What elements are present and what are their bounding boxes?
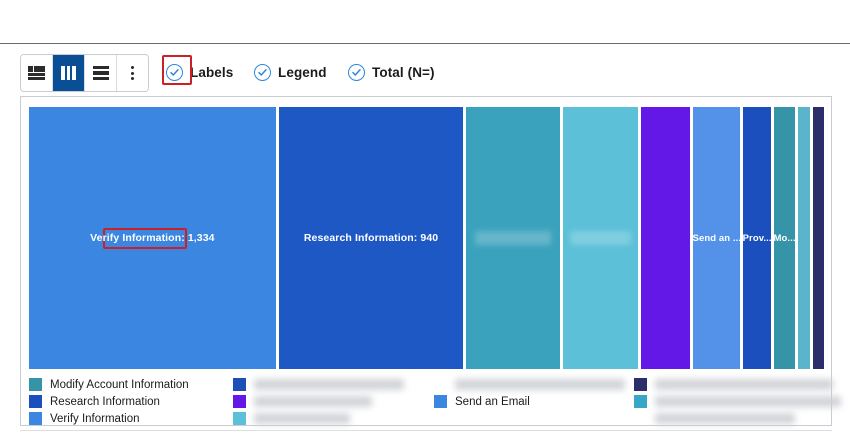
legend-item[interactable] [634,411,841,426]
legend-swatch [233,412,246,425]
bar-chart-icon [93,66,109,80]
legend-swatch [434,395,447,408]
chart-panel: Labels Legend Total (N=) Verify Informa [0,0,850,434]
chart-bar[interactable]: Send an ... [693,107,740,369]
dashboard-view-button[interactable] [21,55,53,91]
check-circle-icon [254,64,271,81]
legend-column [634,377,841,428]
panel-bottom-edge [20,430,832,431]
legend-label-redacted [254,413,350,424]
legend-label-redacted [655,379,833,390]
view-type-button-group [20,54,149,92]
legend-label: Research Information [50,396,160,408]
legend-toggle[interactable]: Legend [254,58,327,86]
legend-item[interactable] [634,377,841,392]
legend-item[interactable]: Modify Account Information [29,377,189,392]
legend-item[interactable]: Verify Information [29,411,189,426]
legend-item[interactable]: Research Information [29,394,189,409]
legend-item[interactable] [434,411,625,426]
legend-swatch [233,378,246,391]
chart-bar-label: Prov... [743,233,771,244]
legend-item[interactable] [233,394,404,409]
chart-bar-label-redacted [475,231,551,245]
legend-swatch [29,412,42,425]
legend-column: Send an Email [434,377,625,428]
column-chart-icon [61,66,76,80]
legend-swatch [634,412,647,425]
legend-label-redacted [254,379,404,390]
chart-bar[interactable]: Mo... [774,107,795,369]
legend-swatch [233,395,246,408]
chart-bar[interactable] [466,107,560,369]
legend-swatch [434,378,447,391]
legend-item[interactable]: Send an Email [434,394,625,409]
marimekko-plot: Verify Information: 1,334Research Inform… [29,107,824,369]
legend-label: Send an Email [455,396,530,408]
legend-item[interactable] [634,394,841,409]
chart-bar-label: Research Information: 940 [302,232,440,244]
chart-bar-label-redacted [570,231,631,245]
legend-swatch [29,395,42,408]
legend-swatch [29,378,42,391]
chart-bar[interactable]: Research Information: 940 [279,107,464,369]
legend-item[interactable] [233,377,404,392]
chart-container: Verify Information: 1,334Research Inform… [20,96,832,426]
bar-chart-view-button[interactable] [85,55,117,91]
legend-label-redacted [655,413,795,424]
chart-bar-label: Mo... [774,233,795,244]
chart-bar[interactable]: Prov... [743,107,771,369]
labels-toggle-label: Labels [190,65,233,80]
labels-toggle[interactable]: Labels [166,58,233,86]
check-circle-icon [166,64,183,81]
chart-legend: Modify Account InformationResearch Infor… [29,377,824,425]
more-options-button[interactable] [117,55,148,91]
legend-label-redacted [655,396,841,407]
legend-column [233,377,404,428]
total-toggle[interactable]: Total (N=) [348,58,435,86]
chart-bar[interactable] [641,107,691,369]
chart-bar[interactable] [563,107,638,369]
chart-toolbar: Labels Legend Total (N=) [0,54,850,92]
legend-toggle-label: Legend [278,65,327,80]
legend-swatch [434,412,447,425]
legend-item[interactable] [434,377,625,392]
chart-bar-label: Send an ... [693,233,740,244]
legend-label: Verify Information [50,413,139,425]
legend-label-redacted [455,379,625,390]
legend-label-redacted [254,396,372,407]
legend-column: Modify Account InformationResearch Infor… [29,377,189,428]
legend-label: Modify Account Information [50,379,189,391]
dashboard-icon [28,66,45,80]
top-divider [0,43,850,44]
chart-bar-label: Verify Information: 1,334 [88,232,216,244]
chart-bar[interactable] [798,107,810,369]
legend-item[interactable] [233,411,404,426]
total-toggle-label: Total (N=) [372,65,435,80]
column-chart-view-button[interactable] [53,55,85,91]
legend-swatch [634,395,647,408]
chart-bar[interactable]: Verify Information: 1,334 [29,107,276,369]
legend-swatch [634,378,647,391]
chart-bar[interactable] [813,107,824,369]
kebab-menu-icon [131,66,135,80]
check-circle-icon [348,64,365,81]
